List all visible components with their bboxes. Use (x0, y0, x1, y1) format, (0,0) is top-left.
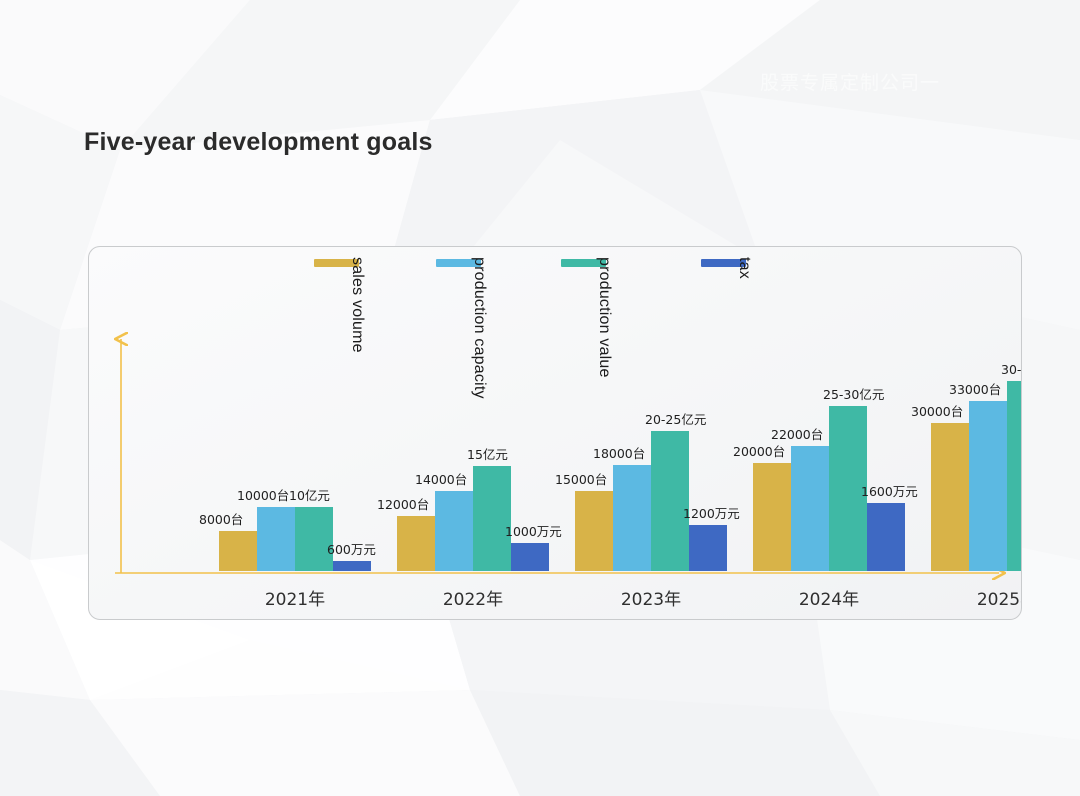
bar-stack: 30000台33000台30-35亿元2500万元 (931, 285, 1022, 571)
bar-sales-volume-2025年[interactable]: 30000台 (931, 423, 969, 571)
bar-value-label: 30000台 (911, 401, 963, 420)
bar-production-capacity-2025年[interactable]: 33000台 (969, 401, 1007, 571)
watermark-text: 股票专属定制公司一 (760, 68, 940, 95)
bar-value-label: 600万元 (327, 539, 376, 558)
bar-value-label: 1000万元 (505, 521, 562, 540)
bar-tax-2022年[interactable]: 1000万元 (511, 543, 549, 571)
bar-value-label: 8000台 (199, 509, 243, 528)
bar-production-capacity-2021年[interactable]: 10000台 (257, 507, 295, 571)
legend-item-tax[interactable]: tax (701, 259, 746, 267)
page-title: Five-year development goals (84, 128, 433, 157)
x-axis-label-2021年: 2021年 (219, 585, 371, 610)
x-axis-label-2022年: 2022年 (397, 585, 549, 610)
bar-production-value-2022年[interactable]: 15亿元 (473, 466, 511, 571)
bar-tax-2021年[interactable]: 600万元 (333, 561, 371, 571)
bar-group-2025年: 30000台33000台30-35亿元2500万元2025年 (931, 285, 1022, 571)
legend-label: tax (735, 257, 753, 279)
bar-value-label: 1600万元 (861, 481, 918, 500)
bar-value-label: 10亿元 (289, 485, 330, 504)
bar-sales-volume-2024年[interactable]: 20000台 (753, 463, 791, 571)
legend-item-production-capacity[interactable]: production capacity (436, 259, 481, 267)
bar-production-value-2023年[interactable]: 20-25亿元 (651, 431, 689, 571)
bar-production-capacity-2022年[interactable]: 14000台 (435, 491, 473, 571)
bar-tax-2024年[interactable]: 1600万元 (867, 503, 905, 571)
bar-sales-volume-2022年[interactable]: 12000台 (397, 516, 435, 571)
legend-label: production capacity (470, 257, 488, 399)
legend-label: sales volume (348, 257, 366, 353)
bar-group-2024年: 20000台22000台25-30亿元1600万元2024年 (753, 285, 905, 571)
x-axis-label-2025年: 2025年 (931, 585, 1022, 610)
bar-production-capacity-2023年[interactable]: 18000台 (613, 465, 651, 571)
bar-value-label: 1200万元 (683, 503, 740, 522)
bar-value-label: 14000台 (415, 469, 467, 488)
legend-item-production-value[interactable]: production value (561, 259, 606, 267)
x-axis-label-2023年: 2023年 (575, 585, 727, 610)
bar-value-label: 18000台 (593, 443, 645, 462)
chart-plot-area: 8000台10000台10亿元600万元2021年12000台14000台15亿… (89, 247, 1021, 619)
bar-value-label: 10000台 (237, 485, 289, 504)
bar-stack: 20000台22000台25-30亿元1600万元 (753, 285, 905, 571)
legend-item-sales-volume[interactable]: sales volume (314, 259, 359, 267)
legend-label: production value (595, 257, 613, 378)
bar-value-label: 22000台 (771, 424, 823, 443)
bar-value-label: 25-30亿元 (823, 384, 884, 403)
bar-value-label: 30-35亿元 (1001, 359, 1022, 378)
bar-production-capacity-2024年[interactable]: 22000台 (791, 446, 829, 571)
chart-card: 8000台10000台10亿元600万元2021年12000台14000台15亿… (88, 246, 1022, 620)
bar-sales-volume-2021年[interactable]: 8000台 (219, 531, 257, 571)
bar-production-value-2025年[interactable]: 30-35亿元 (1007, 381, 1022, 571)
bar-value-label: 20000台 (733, 441, 785, 460)
bar-value-label: 15000台 (555, 469, 607, 488)
bar-value-label: 15亿元 (467, 444, 508, 463)
x-axis-label-2024年: 2024年 (753, 585, 905, 610)
bar-sales-volume-2023年[interactable]: 15000台 (575, 491, 613, 571)
bar-value-label: 20-25亿元 (645, 409, 706, 428)
bar-value-label: 33000台 (949, 379, 1001, 398)
bar-value-label: 12000台 (377, 494, 429, 513)
bar-tax-2023年[interactable]: 1200万元 (689, 525, 727, 571)
